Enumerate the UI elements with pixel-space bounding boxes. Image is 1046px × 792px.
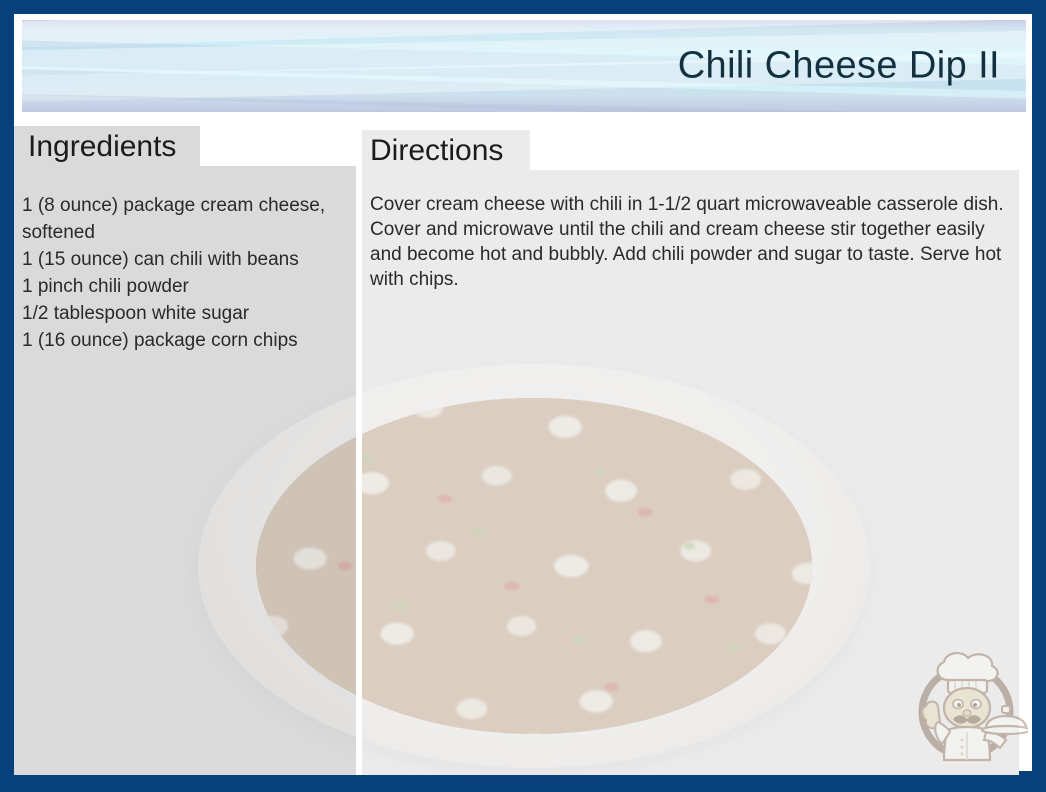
- ingredients-panel: Ingredients 1 (8 ounce) package cream ch…: [14, 126, 356, 775]
- column-gutter: [356, 126, 362, 775]
- directions-panel: Directions Cover cream cheese with chili…: [362, 130, 1019, 775]
- slide-border-right: [1032, 0, 1046, 792]
- list-item: 1 (15 ounce) can chili with beans: [22, 246, 352, 273]
- ingredients-list: 1 (8 ounce) package cream cheese, soften…: [22, 192, 352, 354]
- list-item: 1 pinch chili powder: [22, 273, 352, 300]
- list-item: 1 (16 ounce) package corn chips: [22, 327, 352, 354]
- directions-text: Cover cream cheese with chili in 1-1/2 q…: [370, 192, 1010, 292]
- slide-border-left: [0, 0, 14, 792]
- header-banner: Chili Cheese Dip II: [22, 20, 1026, 112]
- page-title: Chili Cheese Dip II: [678, 45, 1000, 88]
- list-item: 1 (8 ounce) package cream cheese, soften…: [22, 192, 352, 246]
- slide-border-top: [0, 0, 1046, 14]
- directions-tab: Directions: [362, 130, 530, 172]
- list-item: 1/2 tablespoon white sugar: [22, 300, 352, 327]
- ingredients-heading: Ingredients: [28, 128, 176, 166]
- directions-heading: Directions: [370, 132, 503, 170]
- ingredients-tab: Ingredients: [14, 126, 200, 168]
- recipe-slide: Chili Cheese Dip II Ingredients 1 (8 oun…: [0, 0, 1046, 792]
